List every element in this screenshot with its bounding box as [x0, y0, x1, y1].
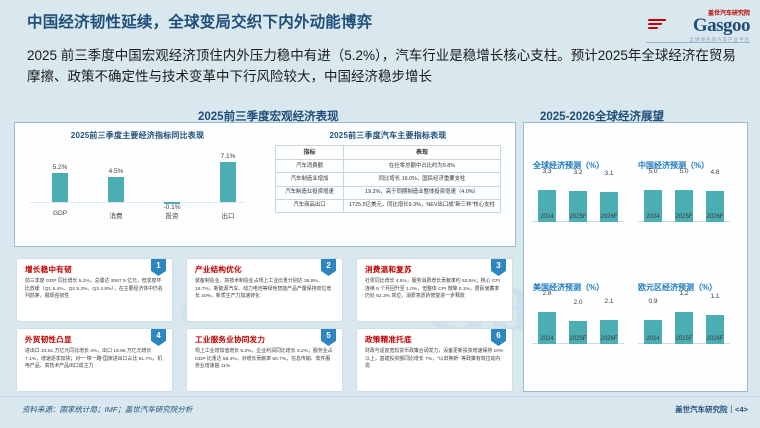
table-header-row: 指标 表现	[276, 146, 501, 160]
forecast-bar-value: 3.2	[563, 169, 593, 176]
chart-macro-axis	[30, 202, 245, 203]
forecast-bar-category: 2026F	[700, 214, 730, 220]
highlight-box-title: 产业结构优化	[195, 264, 242, 275]
highlight-box-2[interactable]: 产业结构优化2装备制造业、高技术制造业占规上工业比重分别达 35.9%、16.7…	[186, 258, 343, 322]
table-cell-indicator: 汽车制造业投资增速	[276, 186, 344, 199]
macro-bar-rect	[52, 173, 68, 202]
macro-bar-rect	[164, 202, 180, 204]
chart-eu-forecast: 0.920241.22025F1.12026F	[634, 294, 734, 358]
macro-bar-value: 4.5%	[96, 168, 136, 175]
forecast-bar-2024: 5.02024	[638, 190, 668, 222]
table-cell-performance: 在社零总额中占比约为9.8%	[344, 160, 501, 173]
highlight-box-badge: 5	[321, 329, 336, 346]
highlight-box-title: 外贸韧性凸显	[25, 334, 72, 345]
table-cell-indicator: 汽车消费额	[276, 160, 344, 173]
lead-paragraph: 2025 前三季度中国宏观经济顶住内外压力稳中有进（5.2%），汽车行业是稳增长…	[27, 46, 737, 88]
page-number: 盖世汽车研究院｜<4>	[675, 404, 748, 415]
highlight-box-title: 增长稳中有韧	[25, 264, 72, 275]
table-auto-title: 2025前三季度汽车主要指标表现	[266, 124, 510, 141]
table-cell-performance: 19.2%，高于同期制造业整体投资增速（4.0%）	[344, 186, 501, 199]
forecast-bar-2024: 0.92024	[638, 320, 668, 344]
table-col-indicator: 指标	[276, 146, 344, 160]
forecast-bar-value: 5.0	[669, 168, 699, 175]
highlight-box-badge: 4	[151, 329, 166, 346]
chart-auto-indicators: 2025前三季度汽车主要指标表现 指标 表现 汽车消费额在社零总额中占比约为9.…	[266, 124, 510, 244]
forecast-bar-value: 3.1	[594, 170, 624, 177]
forecast-bar-value: 3.3	[532, 168, 562, 175]
forecast-bar-2025F: 5.02025F	[669, 190, 699, 222]
forecast-bar-category: 2024	[638, 336, 668, 342]
footer-divider	[0, 396, 760, 397]
forecast-bar-category: 2025F	[563, 214, 593, 220]
table-auto: 指标 表现 汽车消费额在社零总额中占比约为9.8%汽车制造业增加同比增长 16.…	[275, 145, 501, 213]
highlight-box-4[interactable]: 外贸韧性凸显4进出口 33.61 万亿元同比增长 4%，出口 19.95 万亿元…	[16, 328, 173, 392]
table-row: 汽车制造业投资增速19.2%，高于同期制造业整体投资增速（4.0%）	[276, 186, 501, 199]
forecast-bar-category: 2024	[532, 336, 562, 342]
source-note: 资料来源：国家统计局；IMF；盖世汽车研究院分析	[22, 404, 192, 415]
highlight-box-3[interactable]: 消费温和复苏3社零同比增长 4.5%，服务消费增长贡献率约 53.5%；核心 C…	[356, 258, 513, 322]
macro-bar-category: 投资	[152, 210, 192, 220]
logo-wordmark: Gasgoo	[693, 15, 750, 37]
forecast-bar-value: 2.1	[594, 298, 624, 305]
table-row: 汽车制造业增加同比增长 16.0%，国民经济重要支柱	[276, 173, 501, 186]
logo-bars-icon	[648, 19, 668, 33]
table-cell-indicator: 汽车商品出口	[276, 199, 344, 212]
forecast-bar-value: 2.8	[532, 290, 562, 297]
forecast-bar-2026F: 3.12026F	[594, 192, 624, 222]
forecast-bar-category: 2025F	[563, 336, 593, 342]
highlight-box-body: 规上工业增加值增长 6.2%，企业利润同比增长 3.2%；服务业占 GDP 比重…	[195, 348, 334, 371]
macro-bar-category: 消费	[96, 210, 136, 220]
forecast-bar-2026F: 2.12026F	[594, 320, 624, 344]
table-cell-indicator: 汽车制造业增加	[276, 173, 344, 186]
table-row: 汽车消费额在社零总额中占比约为9.8%	[276, 160, 501, 173]
macro-bar-category: GDP	[40, 210, 80, 217]
forecast-bar-2024: 2.82024	[532, 312, 562, 344]
macro-bar-rect	[220, 162, 236, 202]
chart-macro-indicators: 2025前三季度主要经济指标同比表现 5.2%GDP4.5%消费-0.1%投资7…	[16, 124, 259, 244]
forecast-bar-value: 2.0	[563, 299, 593, 306]
page-title: 中国经济韧性延续，全球变局交织下内外动能博弈	[27, 10, 627, 32]
table-col-performance: 表现	[344, 146, 501, 160]
table-cell-performance: 1725.5亿美元，同比增长9.3%，NEV出口成“新三样”核心支柱	[344, 199, 501, 212]
highlight-box-body: 前三季度 GDP 同比增长 5.2%，总量达 3067 9 亿元，但季度环比放缓…	[25, 278, 164, 301]
forecast-bar-category: 2026F	[594, 336, 624, 342]
gasgoo-logo: 盖世汽车研究院 Gasgoo 全球领先的汽车产业平台	[646, 6, 750, 48]
forecast-bar-2025F: 1.22025F	[669, 312, 699, 344]
highlight-box-1[interactable]: 增长稳中有韧1前三季度 GDP 同比增长 5.2%，总量达 3067 9 亿元，…	[16, 258, 173, 322]
slide-root: GasgooGasgoo盖世汽车研究院 中国经济韧性延续，全球变局交织下内外动能…	[0, 0, 760, 428]
chart-us-forecast: 2.820242.02025F2.12026F	[528, 294, 628, 358]
table-cell-performance: 同比增长 16.0%，国民经济重要支柱	[344, 173, 501, 186]
macro-bar-value: 7.1%	[208, 153, 248, 160]
highlight-box-body: 社零同比增长 4.5%，服务消费增长贡献率约 53.5%；核心 CPI 连续 5…	[365, 278, 504, 301]
forecast-bar-2025F: 3.22025F	[563, 191, 593, 222]
highlight-box-body: 装备制造业、高技术制造业占规上工业比重分别达 35.9%、16.7%，新能源汽车…	[195, 278, 334, 301]
highlight-box-badge: 6	[491, 329, 506, 346]
chart-global-forecast: 3.320243.22025F3.12026F	[528, 172, 628, 236]
highlight-box-body: 进出口 33.61 万亿元同比增长 4%，出口 19.95 万亿元增长 7.1%…	[25, 348, 164, 371]
forecast-bar-value: 1.1	[700, 293, 730, 300]
chart-macro-title: 2025前三季度主要经济指标同比表现	[16, 124, 259, 141]
forecast-bar-value: 4.8	[700, 169, 730, 176]
highlight-box-5[interactable]: 工业服务业协同发力5规上工业增加值增长 6.2%，企业利润同比增长 3.2%；服…	[186, 328, 343, 392]
table-row: 汽车商品出口1725.5亿美元，同比增长9.3%，NEV出口成“新三样”核心支柱	[276, 199, 501, 212]
highlight-box-badge: 1	[151, 259, 166, 276]
highlight-box-title: 工业服务业协同发力	[195, 334, 265, 345]
macro-bar-category: 出口	[208, 210, 248, 220]
forecast-bar-category: 2026F	[594, 214, 624, 220]
forecast-bar-2026F: 4.82026F	[700, 191, 730, 222]
forecast-bar-category: 2026F	[700, 336, 730, 342]
macro-bar-rect	[108, 177, 124, 202]
forecast-bar-2024: 3.32024	[532, 190, 562, 222]
forecast-bar-category: 2025F	[669, 336, 699, 342]
chart-china-forecast: 5.020245.02025F4.82026F	[634, 172, 734, 236]
highlight-box-body: 财政与适度宽松货币政策合阔发力，设备更新投资增速保持 10% 以上，基建投资额同…	[365, 348, 504, 371]
highlight-box-6[interactable]: 政策精准托底6财政与适度宽松货币政策合阔发力，设备更新投资增速保持 10% 以上…	[356, 328, 513, 392]
forecast-bar-value: 5.0	[638, 168, 668, 175]
chart-macro-plot: 5.2%GDP4.5%消费-0.1%投资7.1%出口	[26, 154, 249, 224]
highlight-box-badge: 3	[491, 259, 506, 276]
highlight-box-badge: 2	[321, 259, 336, 276]
macro-bar-value: 5.2%	[40, 164, 80, 171]
forecast-bar-category: 2024	[638, 214, 668, 220]
logo-tagline: 全球领先的汽车产业平台	[690, 37, 751, 43]
forecast-bar-value: 1.2	[669, 290, 699, 297]
highlight-box-title: 消费温和复苏	[365, 264, 412, 275]
forecast-bar-value: 0.9	[638, 298, 668, 305]
forecast-bar-2025F: 2.02025F	[563, 321, 593, 344]
forecast-bar-category: 2025F	[669, 214, 699, 220]
highlight-box-title: 政策精准托底	[365, 334, 412, 345]
forecast-bar-2026F: 1.12026F	[700, 315, 730, 344]
forecast-bar-category: 2024	[532, 214, 562, 220]
